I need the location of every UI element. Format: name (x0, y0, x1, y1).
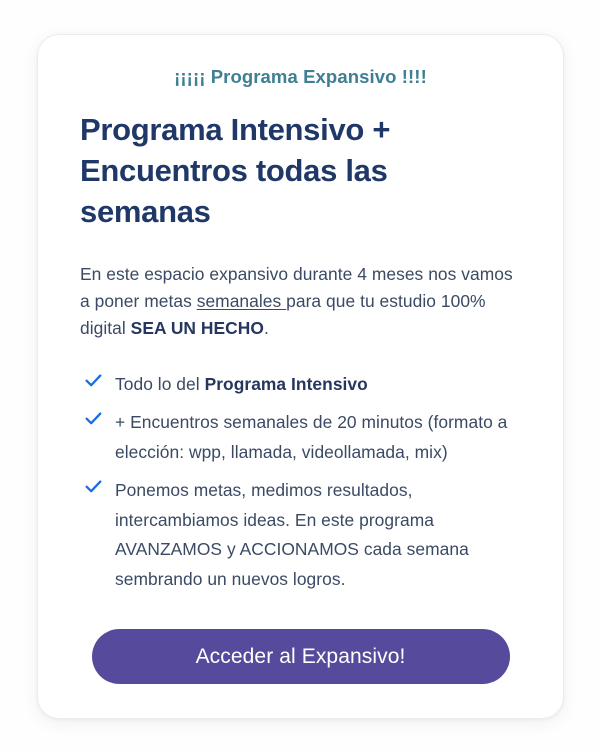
acceder-al-expansivo-button[interactable]: Acceder al Expansivo! (92, 629, 510, 684)
check-icon (84, 409, 103, 435)
list-item: Ponemos metas, medimos resultados, inter… (84, 476, 521, 596)
page-title: Programa Intensivo + Encuentros todas la… (80, 110, 521, 233)
benefits-list: Todo lo del Programa Intensivo + Encuent… (80, 370, 521, 596)
cta-container: Acceder al Expansivo! (80, 629, 521, 684)
list-item-text-plain: Ponemos metas, medimos resultados, inter… (115, 480, 469, 590)
list-item-text-plain: Todo lo del (115, 374, 205, 394)
card-content: ¡¡¡¡¡ Programa Expansivo !!!! Programa I… (38, 35, 563, 684)
check-icon (84, 477, 103, 503)
description-underlined-term: semanales (197, 291, 286, 311)
list-item: Todo lo del Programa Intensivo (84, 370, 521, 400)
page-root: ¡¡¡¡¡ Programa Expansivo !!!! Programa I… (0, 0, 600, 750)
list-item-text-bold: Programa Intensivo (205, 374, 368, 394)
card-eyebrow: ¡¡¡¡¡ Programa Expansivo !!!! (80, 65, 521, 88)
list-item-text: Ponemos metas, medimos resultados, inter… (115, 476, 521, 596)
card-description: En este espacio expansivo durante 4 mese… (80, 261, 521, 342)
list-item-text: Todo lo del Programa Intensivo (115, 370, 368, 400)
offer-card: ¡¡¡¡¡ Programa Expansivo !!!! Programa I… (37, 34, 564, 719)
description-part-3: . (264, 318, 269, 338)
list-item-text: + Encuentros semanales de 20 minutos (fo… (115, 408, 521, 468)
list-item: + Encuentros semanales de 20 minutos (fo… (84, 408, 521, 468)
check-icon (84, 371, 103, 397)
list-item-text-plain: + Encuentros semanales de 20 minutos (fo… (115, 412, 507, 462)
description-emphasis: SEA UN HECHO (131, 318, 264, 338)
